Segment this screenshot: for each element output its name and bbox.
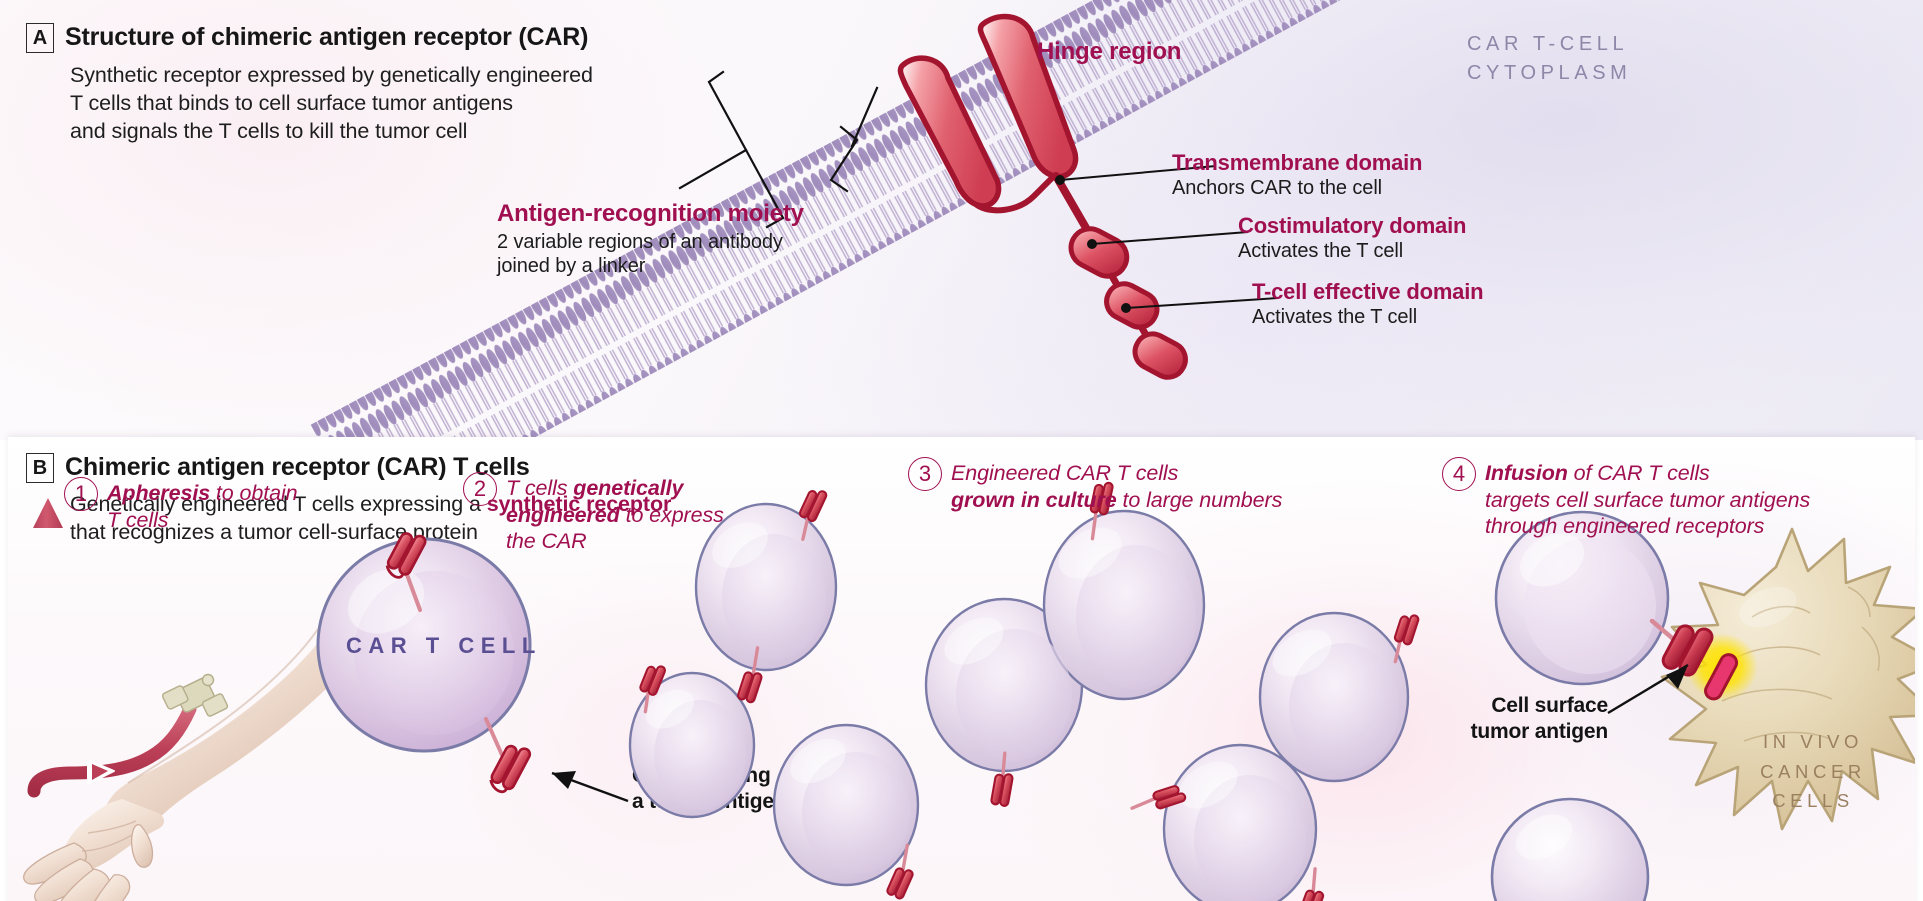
step-4-rest: of CAR T cells [1568, 461, 1710, 485]
callout-antigen-recognition-moiety: Antigen-recognition moiety 2 variable re… [497, 200, 804, 278]
cytoplasm-label-line-2: CYTOPLASM [1467, 59, 1631, 88]
step-2-bold-2: engineered [506, 503, 620, 527]
callout-antigen-recognition-moiety-sub-1: 2 variable regions of an antibody [497, 230, 804, 254]
step-4-line-2: targets cell surface tumor antigens [1485, 487, 1810, 514]
cytoplasm-label-line-1: CAR T-CELL [1467, 30, 1631, 59]
callout-antigen-recognition-moiety-sub-2: joined by a linker [497, 254, 804, 278]
panel-a-subtitle-line-2: T cells that binds to cell surface tumor… [70, 90, 593, 118]
cell-surface-antigen-callout-arrow [1604, 651, 1734, 731]
step-2-pre: T cells [506, 476, 573, 500]
callout-transmembrane-domain: Transmembrane domain Anchors CAR to the … [1172, 150, 1422, 200]
step-1-text: Apheresis to obtain T cells [107, 477, 298, 533]
step-4: 4 Infusion of CAR T cells targets cell s… [1442, 457, 1810, 540]
infusion-car-t-cell-lower [1484, 785, 1664, 901]
callout-cell-surface-antigen-line-1: Cell surface [1478, 693, 1608, 719]
callout-cell-surface-antigen-line-2: tumor antigen [1408, 719, 1608, 745]
panel-a-header: A Structure of chimeric antigen receptor… [26, 23, 593, 146]
cultured-car-t-cell-cluster [648, 457, 1368, 901]
callout-cell-surface-tumor-antigen: Cell surface tumor antigen [1478, 693, 1608, 744]
cancer-label-line-3: CELLS [1713, 786, 1913, 816]
panel-a-letter-badge: A [26, 23, 54, 53]
car-receptor-on-large-cell-top [378, 532, 448, 622]
step-3-number: 3 [908, 457, 942, 491]
callout-transmembrane-domain-title: Transmembrane domain [1172, 150, 1422, 175]
callout-t-cell-effective-domain-title: T-cell effective domain [1252, 279, 1483, 304]
panel-a-title: Structure of chimeric antigen receptor (… [65, 23, 588, 52]
in-vivo-cancer-cells-label: IN VIVO CANCER CELLS [1713, 727, 1913, 816]
car-t-cell-label: CAR T CELL [346, 633, 542, 659]
infographic-stage: A Structure of chimeric antigen receptor… [0, 0, 1923, 901]
step-1-bold: Apheresis [107, 481, 210, 505]
callout-t-cell-effective-domain-sub: Activates the T cell [1252, 305, 1483, 329]
callout-costimulatory-domain: Costimulatory domain Activates the T cel… [1238, 213, 1466, 263]
step-1: 1 Apheresis to obtain T cells [64, 477, 298, 533]
step-3-line-1: Engineered CAR T cells [951, 460, 1282, 487]
panel-a-car-structure: A Structure of chimeric antigen receptor… [0, 0, 1923, 440]
step-3: 3 Engineered CAR T cells grown in cultur… [908, 457, 1282, 513]
step-3-bold: grown in culture [951, 488, 1117, 512]
step-4-line-3: through engineered receptors [1485, 513, 1810, 540]
step-4-bold: Infusion [1485, 461, 1568, 485]
step-3-rest: to large numbers [1117, 488, 1283, 512]
step-4-line-1: Infusion of CAR T cells [1485, 460, 1810, 487]
callout-costimulatory-domain-sub: Activates the T cell [1238, 239, 1466, 263]
panel-b-car-t-cell-workflow: B Chimeric antigen receptor (CAR) T cell… [8, 437, 1915, 901]
step-1-line-1: Apheresis to obtain [107, 480, 298, 507]
cancer-label-line-1: IN VIVO [1713, 727, 1913, 757]
step-2-number: 2 [463, 472, 497, 506]
step-4-text: Infusion of CAR T cells targets cell sur… [1485, 457, 1810, 540]
step-1-rest: to obtain [210, 481, 297, 505]
callout-transmembrane-domain-sub: Anchors CAR to the cell [1172, 176, 1422, 200]
patient-arm-illustration [18, 627, 348, 901]
step-1-line-2: T cells [107, 507, 298, 534]
car-t-cell-cytoplasm-label: CAR T-CELL CYTOPLASM [1467, 30, 1631, 88]
step-4-number: 4 [1442, 457, 1476, 491]
callout-costimulatory-domain-title: Costimulatory domain [1238, 213, 1466, 238]
step-1-number: 1 [64, 477, 98, 511]
step-3-line-2: grown in culture to large numbers [951, 487, 1282, 514]
car-targeting-callout-arrow [508, 757, 638, 817]
cancer-label-line-2: CANCER [1713, 757, 1913, 787]
step-3-text: Engineered CAR T cells grown in culture … [951, 457, 1282, 513]
callout-antigen-recognition-moiety-title: Antigen-recognition moiety [497, 200, 804, 228]
panel-a-subtitle-line-3: and signals the T cells to kill the tumo… [70, 118, 593, 146]
callout-t-cell-effective-domain: T-cell effective domain Activates the T … [1252, 279, 1483, 329]
callout-hinge-region-title: Hinge region [1037, 38, 1181, 66]
panel-a-subtitle-line-1: Synthetic receptor expressed by genetica… [70, 62, 593, 90]
panel-a-subtitle: Synthetic receptor expressed by genetica… [70, 62, 593, 146]
